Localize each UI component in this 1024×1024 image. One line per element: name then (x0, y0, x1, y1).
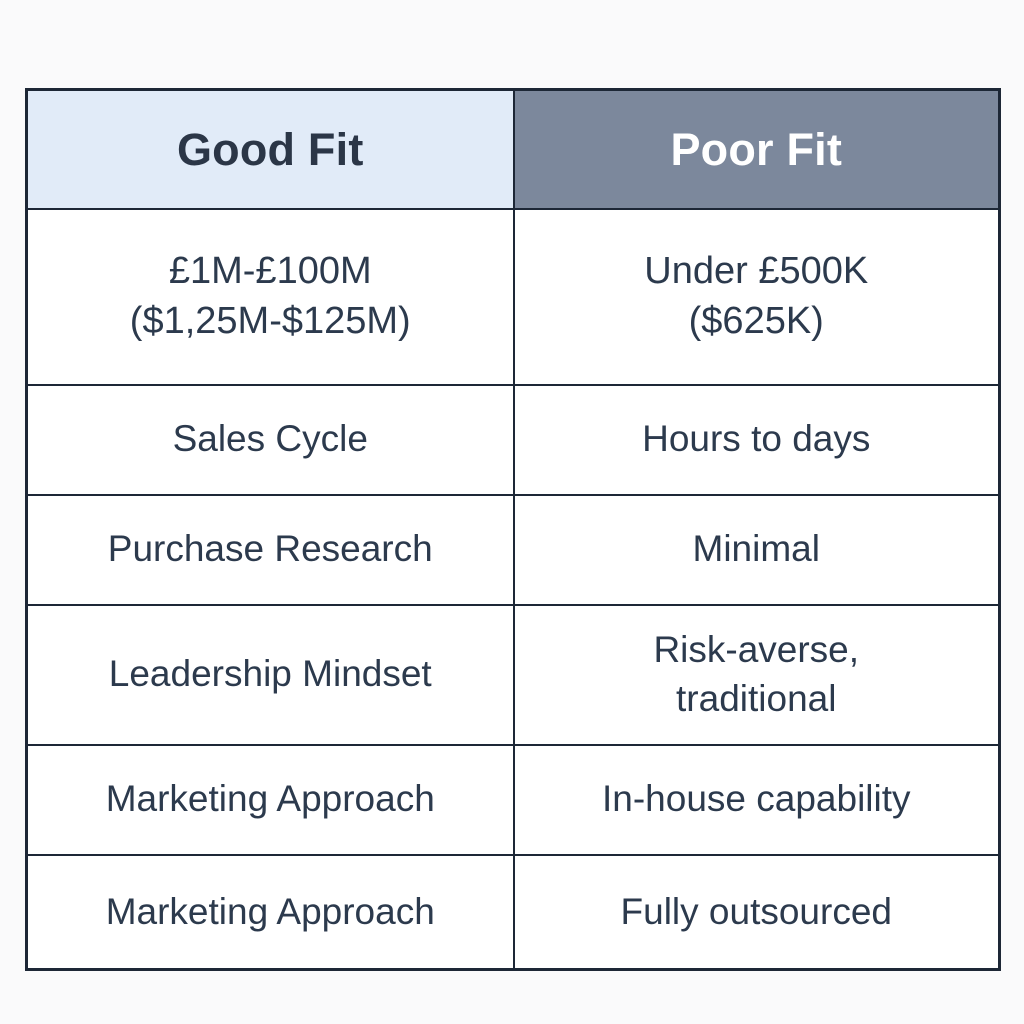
cell-line-primary: Sales Cycle (42, 416, 499, 462)
cell-poor-marketing-approach-2: Fully outsourced (514, 855, 1000, 970)
cell-good-marketing-approach-2: Marketing Approach (27, 855, 514, 970)
cell-good-marketing-approach-1: Marketing Approach (27, 745, 514, 855)
table-row: Sales Cycle Hours to days (27, 385, 1000, 495)
cell-good-leadership-mindset: Leadership Mindset (27, 605, 514, 745)
cell-poor-marketing-approach-1: In-house capability (514, 745, 1000, 855)
page-canvas: Good Fit Poor Fit £1M-£100M ($1,25M-$125… (0, 0, 1024, 1024)
cell-line-primary: Purchase Research (42, 526, 499, 572)
table-row: Marketing Approach Fully outsourced (27, 855, 1000, 970)
cell-line-secondary: ($1,25M-$125M) (42, 298, 499, 346)
cell-line-primary: £1M-£100M (42, 248, 499, 296)
cell-line-primary: Risk-averse, (529, 627, 985, 673)
cell-good-revenue-range: £1M-£100M ($1,25M-$125M) (27, 209, 514, 385)
table-body: £1M-£100M ($1,25M-$125M) Under £500K ($6… (27, 209, 1000, 970)
table-header-row: Good Fit Poor Fit (27, 90, 1000, 209)
cell-line-primary: Marketing Approach (42, 889, 499, 935)
good-fit-poor-fit-comparison-table: Good Fit Poor Fit £1M-£100M ($1,25M-$125… (25, 88, 1001, 971)
table-row: £1M-£100M ($1,25M-$125M) Under £500K ($6… (27, 209, 1000, 385)
cell-poor-leadership-mindset: Risk-averse, traditional (514, 605, 1000, 745)
cell-poor-purchase-research: Minimal (514, 495, 1000, 605)
cell-poor-sales-cycle: Hours to days (514, 385, 1000, 495)
cell-line-primary: Fully outsourced (529, 889, 985, 935)
cell-line-primary: Leadership Mindset (42, 651, 499, 697)
cell-poor-revenue-range: Under £500K ($625K) (514, 209, 1000, 385)
cell-line-secondary: traditional (529, 676, 985, 722)
cell-line-primary: Marketing Approach (42, 776, 499, 822)
table-row: Purchase Research Minimal (27, 495, 1000, 605)
cell-line-primary: In-house capability (529, 776, 985, 822)
table-row: Leadership Mindset Risk-averse, traditio… (27, 605, 1000, 745)
cell-line-primary: Hours to days (529, 416, 985, 462)
cell-line-primary: Under £500K (529, 248, 985, 296)
table-header: Good Fit Poor Fit (27, 90, 1000, 209)
cell-line-secondary: ($625K) (529, 298, 985, 346)
cell-good-sales-cycle: Sales Cycle (27, 385, 514, 495)
column-header-good-fit: Good Fit (27, 90, 514, 209)
cell-good-purchase-research: Purchase Research (27, 495, 514, 605)
table-row: Marketing Approach In-house capability (27, 745, 1000, 855)
cell-line-primary: Minimal (529, 526, 985, 572)
column-header-poor-fit: Poor Fit (514, 90, 1000, 209)
